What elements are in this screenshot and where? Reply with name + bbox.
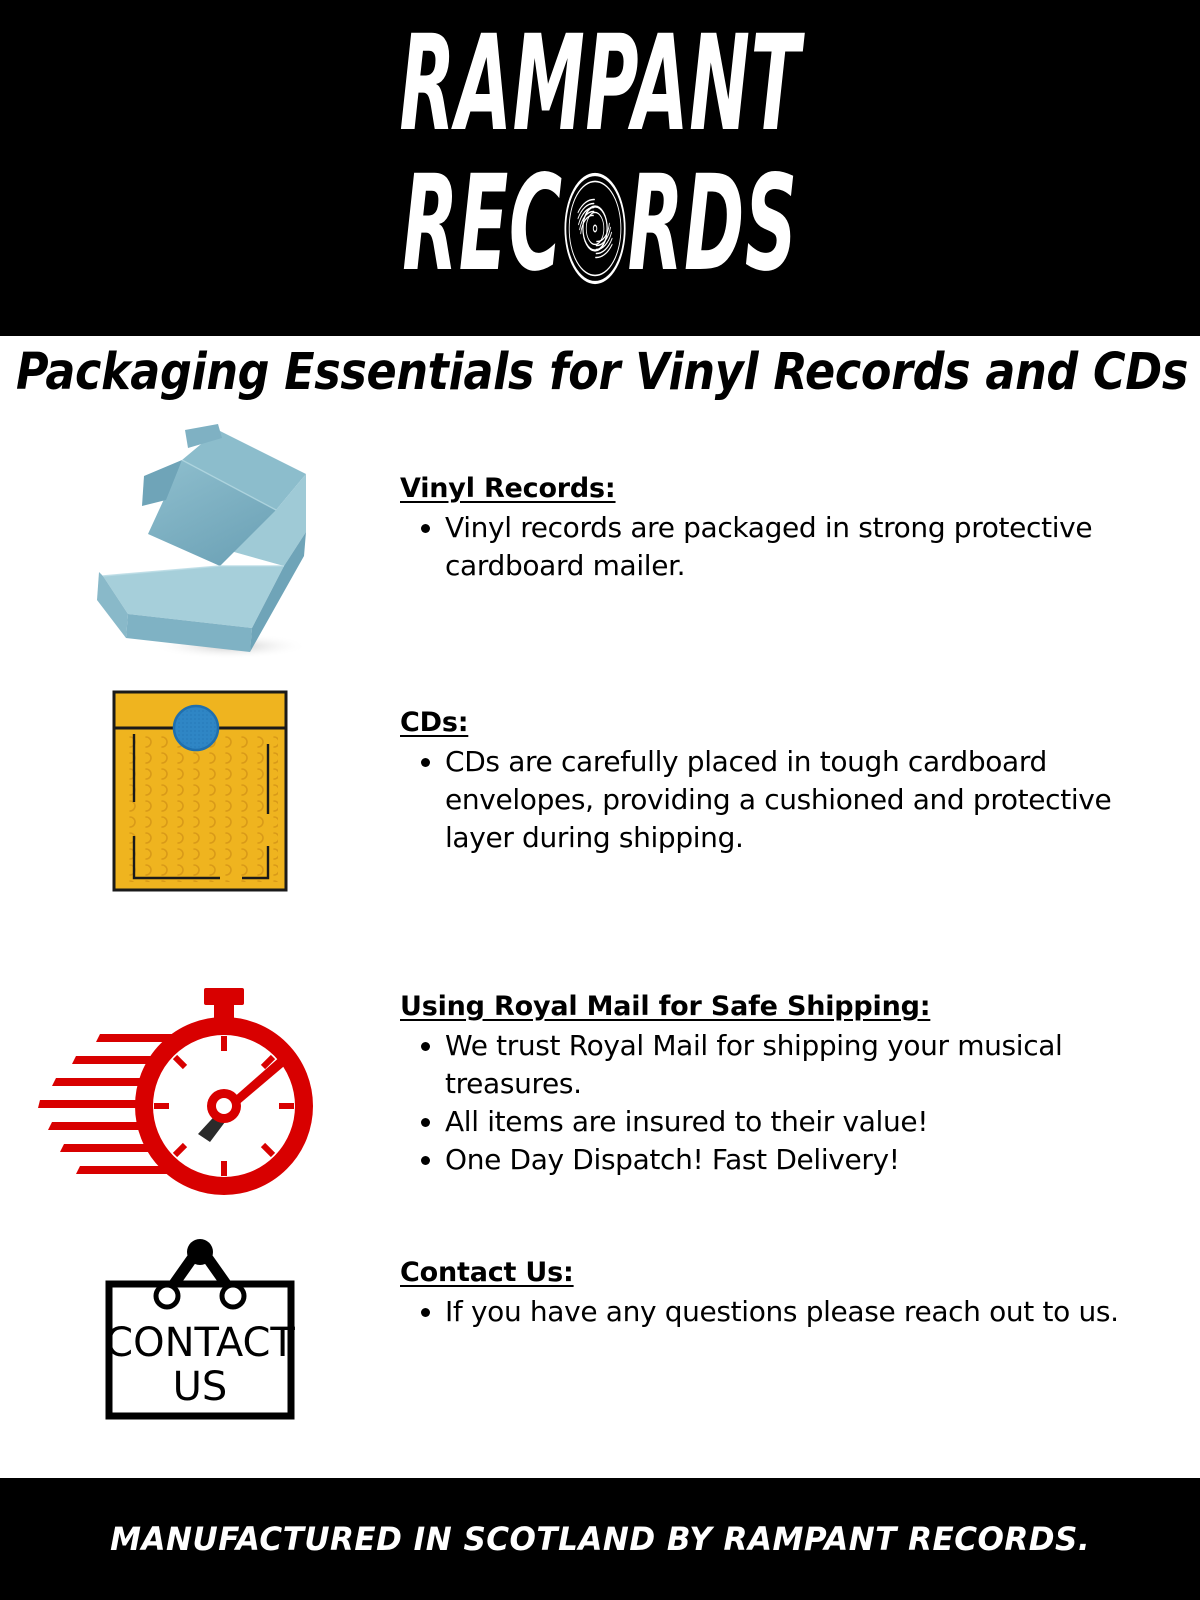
section-cds: CDs: CDs are carefully placed in tough c… [0,676,1200,946]
footer-band: MANUFACTURED IN SCOTLAND BY RAMPANT RECO… [0,1478,1200,1600]
section-royal-bullets: We trust Royal Mail for shipping your mu… [400,1027,1180,1179]
list-item: One Day Dispatch! Fast Delivery! [445,1141,1180,1179]
brand-logo-line-2: REC RDS [270,158,930,290]
section-cds-bullets: CDs are carefully placed in tough cardbo… [400,743,1180,857]
section-cds-heading: CDs: [400,706,1180,740]
sign-line-2: US [173,1364,228,1410]
sign-line-1: CONTACT [105,1320,295,1366]
section-royal-mail: Using Royal Mail for Safe Shipping: We t… [0,946,1200,1204]
padded-envelope-icon [110,686,290,896]
vinyl-record-icon [563,158,628,290]
section-royal-heading: Using Royal Mail for Safe Shipping: [400,990,1180,1024]
section-contact-heading: Contact Us: [400,1256,1180,1290]
list-item: If you have any questions please reach o… [445,1293,1180,1331]
section-contact-icon-slot: CONTACT US [0,1204,400,1422]
content-sections: Vinyl Records: Vinyl records are package… [0,414,1200,1394]
section-contact-bullets: If you have any questions please reach o… [400,1293,1180,1331]
section-contact-body: Contact Us: If you have any questions pl… [400,1204,1200,1331]
brand-logo-line-1: RAMPANT [270,18,930,150]
section-vinyl-icon-slot [0,414,400,664]
section-vinyl-heading: Vinyl Records: [400,472,1180,506]
section-vinyl-records: Vinyl Records: Vinyl records are package… [0,414,1200,676]
list-item: Vinyl records are packaged in strong pro… [445,509,1180,585]
section-cds-icon-slot [0,676,400,896]
brand-logo-line-2-post: RDS [628,158,798,290]
brand-logo-line-2-pre: REC [402,158,562,290]
section-cds-body: CDs: CDs are carefully placed in tough c… [400,676,1200,857]
list-item: CDs are carefully placed in tough cardbo… [445,743,1180,857]
list-item: We trust Royal Mail for shipping your mu… [445,1027,1180,1103]
stopwatch-speed-icon [38,976,318,1206]
contact-us-sign-icon: CONTACT US [95,1232,305,1422]
section-vinyl-body: Vinyl Records: Vinyl records are package… [400,414,1200,585]
section-royal-icon-slot [0,946,400,1206]
list-item: All items are insured to their value! [445,1103,1180,1141]
footer-text: MANUFACTURED IN SCOTLAND BY RAMPANT RECO… [110,1520,1090,1558]
page-title: Packaging Essentials for Vinyl Records a… [16,336,1038,408]
section-vinyl-bullets: Vinyl records are packaged in strong pro… [400,509,1180,585]
section-contact-us: CONTACT US Contact Us: If you have any q… [0,1204,1200,1394]
section-royal-body: Using Royal Mail for Safe Shipping: We t… [400,946,1200,1179]
brand-header-band: RAMPANT REC [0,0,1200,336]
cardboard-mailer-box-icon [70,414,330,664]
